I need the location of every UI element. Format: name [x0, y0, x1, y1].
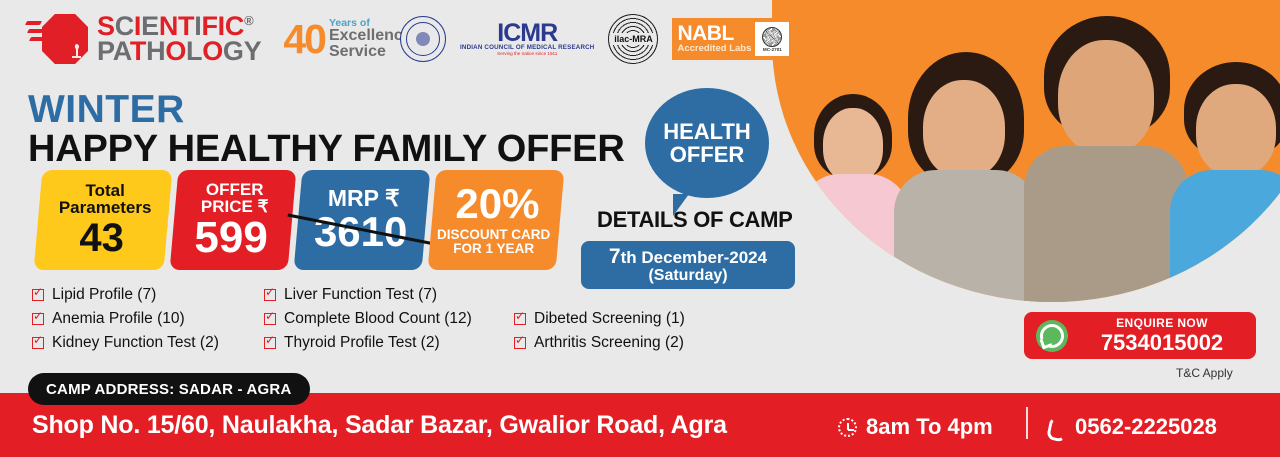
octagon-logo-icon	[26, 10, 88, 68]
brand-name-line2: PATHOLOGY	[97, 39, 261, 64]
mrp-value: 3610	[314, 211, 407, 253]
terms-conditions-note: T&C Apply	[1176, 366, 1233, 380]
mrp-caption: MRP ₹	[328, 187, 400, 210]
bubble-line2: OFFER	[670, 143, 745, 166]
checkbox-icon	[264, 337, 276, 349]
list-item: Thyroid Profile Test (2)	[264, 334, 514, 352]
offer-price-box: OFFER PRICE ₹ 599	[170, 170, 297, 270]
mrp-box: MRP ₹ 3610	[294, 170, 431, 270]
checkbox-icon	[514, 313, 526, 325]
icmr-tagline: Serving the nation since 1911	[460, 51, 594, 56]
list-item: Kidney Function Test (2)	[32, 334, 264, 352]
brand-header: SCIENTIFIC® PATHOLOGY 40 Years of Excell…	[26, 10, 412, 68]
discount-caption1: DISCOUNT CARD	[437, 227, 550, 242]
list-item: Complete Blood Count (12)	[264, 310, 514, 328]
scientific-pathology-logo: SCIENTIFIC® PATHOLOGY	[26, 10, 261, 68]
promotional-banner: SCIENTIFIC® PATHOLOGY 40 Years of Excell…	[0, 0, 1280, 457]
camp-date-weekday: (Saturday)	[648, 268, 727, 285]
registered-mark: ®	[244, 13, 253, 28]
test-list: Lipid Profile (7) Liver Function Test (7…	[32, 286, 752, 358]
camp-date-rest: th December-2024	[621, 248, 767, 267]
nabl-title: NABL	[677, 25, 751, 44]
bubble-line1: HEALTH	[663, 120, 751, 143]
season-title: WINTER	[28, 88, 185, 132]
checkbox-icon	[264, 289, 276, 301]
nabl-cert-number: MC-2701	[763, 47, 782, 52]
discount-caption2: FOR 1 YEAR	[454, 242, 535, 257]
accreditation-badges: ICMR INDIAN COUNCIL OF MEDICAL RESEARCH …	[400, 14, 794, 64]
camp-address-pill: CAMP ADDRESS: SADAR - AGRA	[28, 373, 310, 405]
anniversary-number: 40	[283, 19, 325, 60]
test-name: Liver Function Test (7)	[284, 286, 437, 304]
price-box-group: Total Parameters 43 OFFER PRICE ₹ 599 MR…	[38, 170, 560, 270]
checkbox-icon	[264, 313, 276, 325]
total-parameters-box: Total Parameters 43	[34, 170, 173, 270]
ilac-label: ilac-MRA	[612, 33, 655, 45]
family-photo	[772, 0, 1280, 302]
anniversary-badge: 40 Years of Excellence Service	[283, 18, 411, 61]
page-title: HAPPY HEALTHY FAMILY OFFER	[28, 128, 625, 171]
enquire-label: ENQUIRE NOW	[1076, 317, 1248, 330]
test-name: Kidney Function Test (2)	[52, 334, 219, 352]
microscope-icon	[70, 43, 83, 60]
discount-box: 20% DISCOUNT CARD FOR 1 YEAR	[428, 170, 565, 270]
camp-address-label: CAMP ADDRESS: SADAR - AGRA	[46, 381, 292, 398]
test-name: Arthritis Screening (2)	[534, 334, 684, 352]
government-seal-icon	[400, 16, 446, 62]
test-name: Lipid Profile (7)	[52, 286, 156, 304]
checkbox-icon	[32, 313, 44, 325]
discount-value: 20%	[455, 183, 539, 225]
icmr-badge: ICMR INDIAN COUNCIL OF MEDICAL RESEARCH …	[460, 22, 594, 57]
test-name: Complete Blood Count (12)	[284, 310, 472, 328]
contact-phone[interactable]: 0562-2225028	[1046, 414, 1217, 440]
test-name: Thyroid Profile Test (2)	[284, 334, 440, 352]
checkbox-icon	[514, 337, 526, 349]
ilac-mra-badge: ilac-MRA	[608, 14, 658, 64]
checkbox-icon	[32, 289, 44, 301]
total-parameters-value: 43	[79, 218, 124, 258]
hours-text: 8am To 4pm	[866, 414, 993, 440]
icmr-fullname: INDIAN COUNCIL OF MEDICAL RESEARCH	[460, 44, 594, 51]
whatsapp-number: 7534015002	[1076, 331, 1248, 354]
offer-price-caption1: OFFER	[206, 180, 264, 199]
nabl-badge: NABL Accredited Labs MC-2701	[672, 18, 794, 60]
camp-date-day: 7	[609, 245, 621, 268]
opening-hours: 8am To 4pm	[838, 414, 993, 440]
test-row: Anemia Profile (10) Complete Blood Count…	[32, 310, 752, 328]
health-offer-bubble: HEALTH OFFER	[645, 88, 769, 198]
camp-date-badge: 7th December-2024 (Saturday)	[581, 241, 795, 289]
footer-divider	[1026, 407, 1028, 439]
phone-icon	[1046, 418, 1065, 437]
test-row: Kidney Function Test (2) Thyroid Profile…	[32, 334, 752, 352]
list-item: Arthritis Screening (2)	[514, 334, 744, 352]
list-item: Anemia Profile (10)	[32, 310, 264, 328]
list-item: Lipid Profile (7)	[32, 286, 264, 304]
clock-icon	[838, 418, 857, 437]
phone-number: 0562-2225028	[1075, 414, 1217, 440]
test-name: Anemia Profile (10)	[52, 310, 185, 328]
nabl-certificate-seal: MC-2701	[755, 22, 789, 56]
clinic-address: Shop No. 15/60, Naulakha, Sadar Bazar, G…	[32, 411, 727, 440]
camp-details-title: DETAILS OF CAMP	[597, 207, 793, 233]
list-item: Dibeted Screening (1)	[514, 310, 744, 328]
total-parameters-caption2: Parameters	[59, 198, 152, 217]
whatsapp-icon	[1036, 320, 1068, 352]
icmr-abbr: ICMR	[460, 22, 594, 45]
checkbox-icon	[32, 337, 44, 349]
test-name: Dibeted Screening (1)	[534, 310, 685, 328]
offer-price-value: 599	[195, 216, 268, 260]
list-item: Liver Function Test (7)	[264, 286, 514, 304]
nabl-subtitle: Accredited Labs	[677, 44, 751, 54]
whatsapp-enquiry-button[interactable]: ENQUIRE NOW 7534015002	[1024, 312, 1256, 359]
